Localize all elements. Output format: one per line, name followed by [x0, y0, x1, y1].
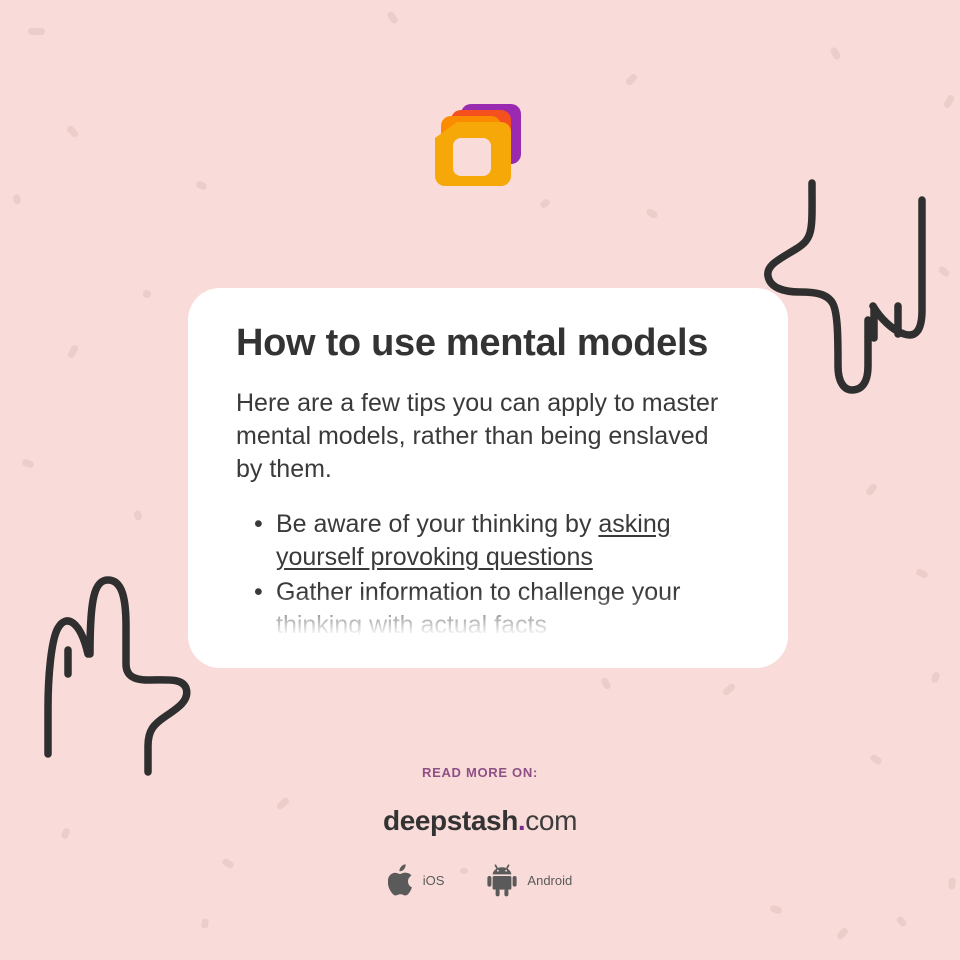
wordmark-tld: com [525, 805, 577, 836]
read-more-label: READ MORE ON: [0, 765, 960, 780]
deepstash-wordmark[interactable]: deepstash.com [0, 805, 960, 837]
list-item-text: Be aware of your thinking by [276, 510, 598, 538]
android-label: Android [527, 873, 572, 888]
background-speck [930, 671, 940, 684]
background-speck [869, 753, 883, 766]
background-speck [539, 198, 551, 210]
background-speck [836, 926, 850, 940]
deepstash-logo [425, 100, 525, 200]
background-speck [937, 265, 951, 278]
apple-icon [388, 864, 414, 896]
background-speck [28, 28, 45, 36]
wordmark-brand: deepstash [383, 805, 518, 836]
background-speck [769, 904, 783, 915]
background-speck [65, 124, 79, 138]
background-speck [645, 207, 659, 219]
android-store-badge[interactable]: Android [486, 863, 572, 897]
poster-canvas: How to use mental models Here are a few … [0, 0, 960, 960]
background-speck [143, 290, 151, 298]
ios-store-badge[interactable]: iOS [388, 864, 445, 896]
background-speck [66, 344, 79, 360]
android-icon [486, 863, 518, 897]
page-title: How to use mental models [236, 322, 740, 365]
background-speck [195, 180, 208, 191]
background-speck [386, 10, 399, 25]
list-item: Be aware of your thinking by asking your… [236, 508, 740, 575]
background-speck [915, 568, 929, 579]
background-speck [624, 72, 638, 86]
store-badges: iOS Android [0, 863, 960, 897]
background-speck [21, 458, 35, 469]
list-item-text: Gather information to challenge your thi… [276, 578, 680, 639]
background-speck [942, 94, 955, 110]
background-speck [829, 46, 842, 61]
list-item: Gather information to challenge your thi… [236, 576, 740, 643]
background-speck [133, 510, 143, 522]
background-speck [600, 677, 612, 691]
logo-cutout [453, 138, 491, 176]
footer: READ MORE ON: deepstash.com iOS [0, 765, 960, 897]
background-speck [721, 682, 736, 696]
card-intro-text: Here are a few tips you can apply to mas… [236, 387, 740, 486]
background-speck [865, 482, 879, 496]
tips-list: Be aware of your thinking by asking your… [236, 508, 740, 643]
background-speck [201, 918, 210, 929]
background-speck [13, 194, 22, 205]
ios-label: iOS [423, 873, 445, 888]
background-speck [895, 915, 907, 928]
content-card: How to use mental models Here are a few … [188, 288, 788, 668]
